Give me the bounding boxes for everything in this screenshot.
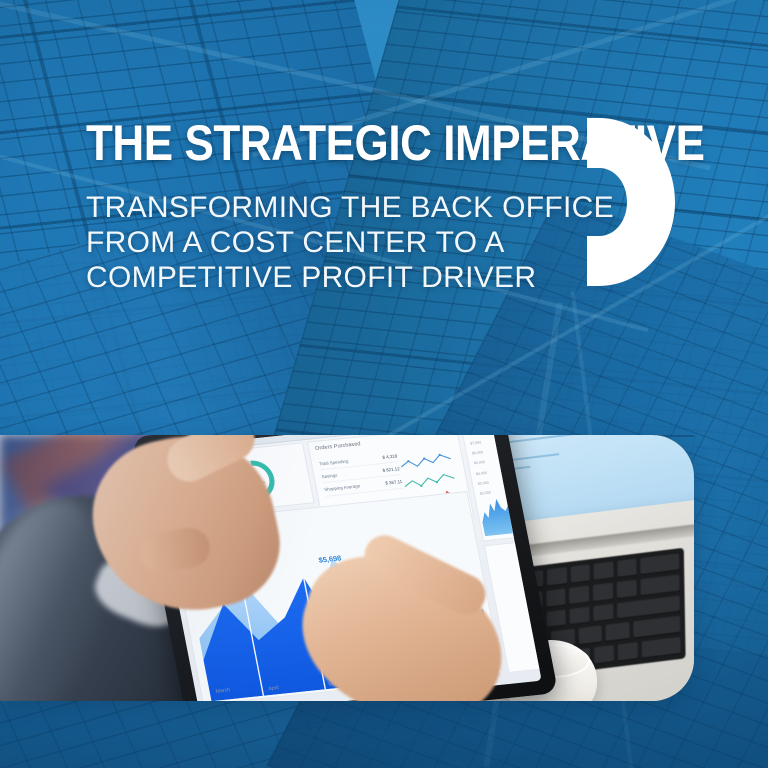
letter-d-monogram-icon xyxy=(583,118,675,286)
row-label: Total Spending xyxy=(319,458,349,466)
page-title: THE STRATEGIC IMPERATIVE xyxy=(86,118,508,168)
subtitle-line-1: TRANSFORMING THE BACK OFFICE xyxy=(86,190,566,225)
orders-table: Total Spending $ 4,318 Savings $ 821.12 … xyxy=(318,449,403,496)
row-value: $ 821.12 xyxy=(382,466,400,473)
slide-canvas: THE STRATEGIC IMPERATIVE TRANSFORMING TH… xyxy=(0,0,768,768)
page-subtitle: TRANSFORMING THE BACK OFFICE FROM A COST… xyxy=(86,190,566,295)
axis-tick: $4,000 xyxy=(476,471,488,476)
row-value: $ 367.11 xyxy=(385,479,403,486)
axis-tick: $6,000 xyxy=(472,451,484,456)
axis-tick: $7,000 xyxy=(470,441,482,446)
hero-photo: 62% CONVERSION 68% COMPLETION Orders Pur… xyxy=(0,435,694,701)
subtitle-line-3: COMPETITIVE PROFIT DRIVER xyxy=(86,260,566,295)
row-value: $ 4,318 xyxy=(382,453,398,459)
headline-block: THE STRATEGIC IMPERATIVE TRANSFORMING TH… xyxy=(86,118,566,295)
subtitle-line-2: FROM A COST CENTER TO A xyxy=(86,225,566,260)
row-label: Savings xyxy=(321,472,338,479)
row-label: Shopping Average xyxy=(324,483,361,492)
axis-tick: $5,000 xyxy=(474,461,486,466)
orders-panel-title: Orders Purchased xyxy=(315,441,361,452)
